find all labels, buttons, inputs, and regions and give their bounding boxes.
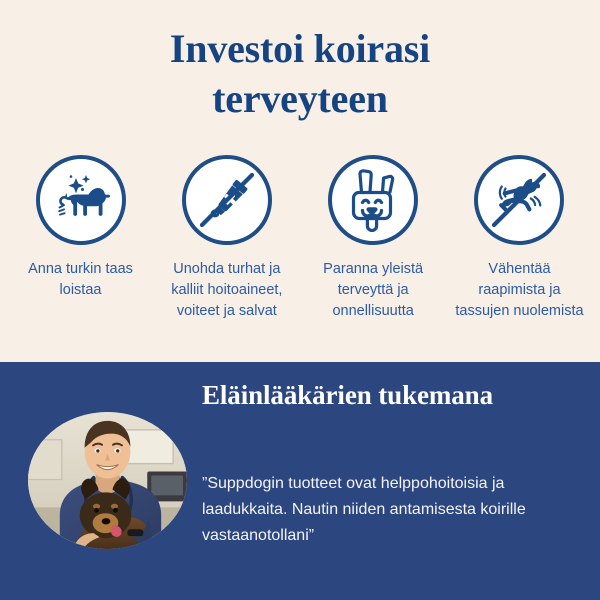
no-ointment-tube-icon	[193, 166, 261, 234]
benefit-item-no-ointments: Unohda turhat ja kalliit hoitoaineet, vo…	[154, 155, 299, 322]
testimonial-section: Eläinlääkärien tukemana ”Suppdogin tuott…	[0, 362, 600, 600]
benefit-icon-circle	[36, 155, 126, 245]
benefit-caption: Vähentää raapimista ja tassujen nuolemis…	[455, 259, 583, 322]
benefit-caption: Paranna yleistä terveyttä ja onnellisuut…	[323, 259, 423, 322]
benefit-item-general-health: Paranna yleistä terveyttä ja onnellisuut…	[301, 155, 446, 322]
benefits-row: Anna turkin taas loistaa	[0, 155, 600, 322]
benefits-section: Investoi koirasi terveyteen	[0, 0, 600, 362]
no-scratching-dog-icon	[485, 166, 553, 234]
benefit-item-less-scratching: Vähentää raapimista ja tassujen nuolemis…	[447, 155, 592, 322]
promotional-poster: Investoi koirasi terveyteen	[0, 0, 600, 600]
benefit-icon-circle	[474, 155, 564, 245]
benefit-caption: Anna turkin taas loistaa	[28, 259, 133, 301]
testimonial-block: Eläinlääkärien tukemana ”Suppdogin tuott…	[202, 380, 586, 549]
happy-dog-face-icon	[344, 168, 402, 232]
veterinarian-with-puppy-photo	[28, 412, 187, 549]
benefit-icon-circle	[328, 155, 418, 245]
benefit-icon-circle	[182, 155, 272, 245]
testimonial-quote: ”Suppdogin tuotteet ovat helppohoitoisia…	[202, 411, 586, 549]
testimonial-heading: Eläinlääkärien tukemana	[202, 380, 586, 411]
benefit-item-shiny-coat: Anna turkin taas loistaa	[8, 155, 153, 322]
sparkling-dog-icon	[51, 172, 111, 228]
benefit-caption: Unohda turhat ja kalliit hoitoaineet, vo…	[171, 259, 282, 322]
page-title: Investoi koirasi terveyteen	[0, 24, 600, 124]
